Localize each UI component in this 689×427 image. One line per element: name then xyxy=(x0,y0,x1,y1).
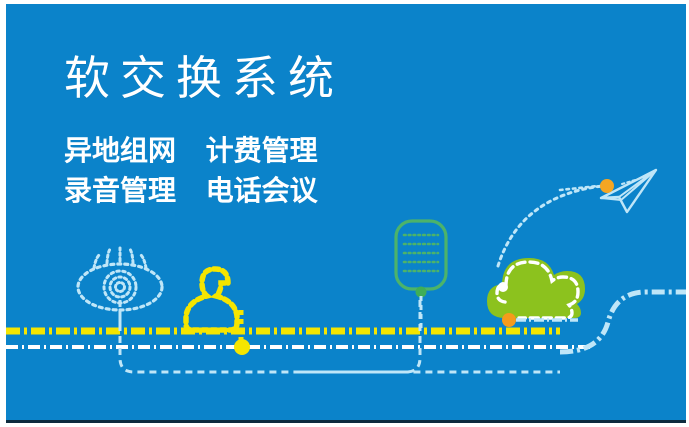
plane-node-orange xyxy=(600,179,614,193)
cloud-node-orange xyxy=(502,313,516,327)
person-icon xyxy=(186,269,250,355)
feature-row-1: 异地组网 计费管理 xyxy=(64,131,484,172)
softswitch-banner: 软交换系统 异地组网 计费管理 录音管理 电话会议 xyxy=(0,0,689,427)
feature-list: 异地组网 计费管理 录音管理 电话会议 xyxy=(64,131,484,212)
feature-row-2: 录音管理 电话会议 xyxy=(64,171,484,212)
server-grid-dots xyxy=(404,235,438,271)
cloud-node-white xyxy=(498,282,508,292)
feature-label-3: 录音管理 xyxy=(64,175,176,206)
server-node-dot xyxy=(416,287,427,298)
cloud-to-plane-arc xyxy=(498,186,602,266)
feature-label-2: 计费管理 xyxy=(206,135,318,166)
cloud-icon xyxy=(487,258,585,327)
server-panel-icon xyxy=(396,221,446,331)
person-node-dot xyxy=(234,339,250,355)
feature-label-1: 异地组网 xyxy=(64,135,176,166)
banner-text-block: 软交换系统 异地组网 计费管理 录音管理 电话会议 xyxy=(64,52,484,212)
feature-label-4: 电话会议 xyxy=(206,175,318,206)
blue-route-line-server xyxy=(300,300,420,372)
page-title: 软交换系统 xyxy=(64,52,484,105)
